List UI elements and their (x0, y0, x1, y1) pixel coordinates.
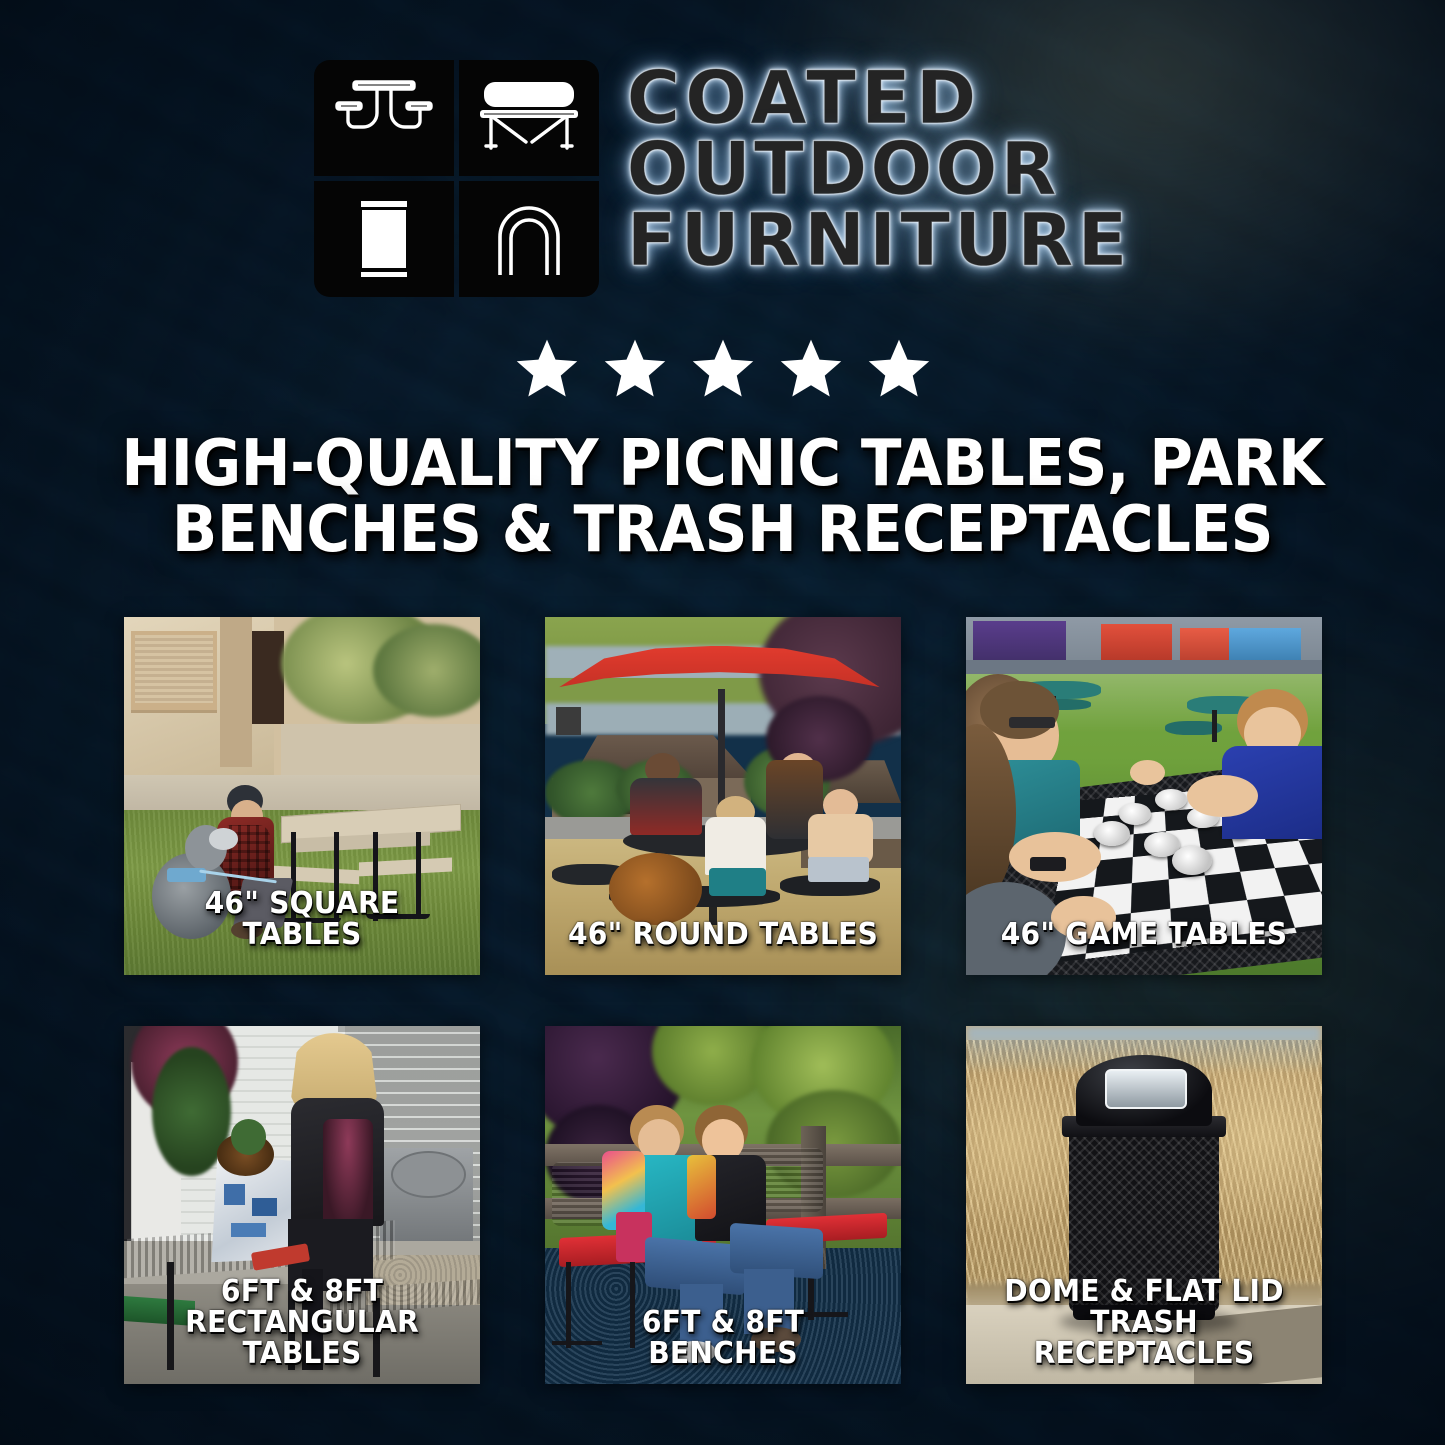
brand-name-line-1: COATED (627, 64, 1132, 135)
star-icon (690, 336, 756, 402)
product-caption-line-1: DOME & FLAT LID (982, 1277, 1305, 1308)
product-caption-line-1: 46" GAME TABLES (982, 920, 1305, 951)
product-caption: 46" SQUARE TABLES (140, 889, 463, 951)
star-icon (514, 336, 580, 402)
product-tile-rectangular-tables[interactable]: 6FT & 8FT RECTANGULAR TABLES (124, 1026, 480, 1384)
picnic-table-icon (314, 60, 454, 176)
product-caption-line-2: RECTANGULAR TABLES (140, 1308, 463, 1370)
product-caption-line-1: 46" SQUARE TABLES (140, 889, 463, 951)
star-icon (602, 336, 668, 402)
product-caption: 6FT & 8FT BENCHES (561, 1308, 884, 1370)
product-tile-game-tables[interactable]: 46" GAME TABLES (966, 617, 1322, 975)
brand-wordmark: COATED OUTDOOR FURNITURE (627, 60, 1132, 276)
product-caption-line-1: 46" ROUND TABLES (561, 920, 884, 951)
page-title: HIGH-QUALITY PICNIC TABLES, PARK BENCHES… (106, 432, 1338, 564)
product-caption: 46" ROUND TABLES (561, 920, 884, 951)
product-tile-trash-receptacles[interactable]: DOME & FLAT LID TRASH RECEPTACLES (966, 1026, 1322, 1384)
product-grid: 46" SQUARE TABLES (124, 617, 1334, 1384)
brand-logo: COATED OUTDOOR FURNITURE (0, 60, 1445, 297)
product-caption: DOME & FLAT LID TRASH RECEPTACLES (982, 1277, 1305, 1370)
headline-line-2: BENCHES & TRASH RECEPTACLES (106, 498, 1338, 564)
logo-mark (314, 60, 599, 297)
star-icon (778, 336, 844, 402)
trash-receptacle-icon (314, 181, 454, 297)
bench-icon (459, 60, 599, 176)
product-caption: 46" GAME TABLES (982, 920, 1305, 951)
rating-stars (0, 336, 1445, 402)
headline-line-1: HIGH-QUALITY PICNIC TABLES, PARK (106, 432, 1338, 498)
star-icon (866, 336, 932, 402)
product-caption-line-2: BENCHES (561, 1339, 884, 1370)
product-caption-line-1: 6FT & 8FT (140, 1277, 463, 1308)
product-tile-round-tables[interactable]: 46" ROUND TABLES (545, 617, 901, 975)
poster: COATED OUTDOOR FURNITURE HIGH-QUALITY PI… (0, 0, 1445, 1445)
arch-icon (459, 181, 599, 297)
brand-name-line-3: FURNITURE (627, 206, 1132, 277)
brand-name-line-2: OUTDOOR (627, 135, 1132, 206)
product-caption-line-2: TRASH RECEPTACLES (982, 1308, 1305, 1370)
product-tile-benches[interactable]: 6FT & 8FT BENCHES (545, 1026, 901, 1384)
product-tile-square-tables[interactable]: 46" SQUARE TABLES (124, 617, 480, 975)
product-caption-line-1: 6FT & 8FT (561, 1308, 884, 1339)
product-caption: 6FT & 8FT RECTANGULAR TABLES (140, 1277, 463, 1370)
